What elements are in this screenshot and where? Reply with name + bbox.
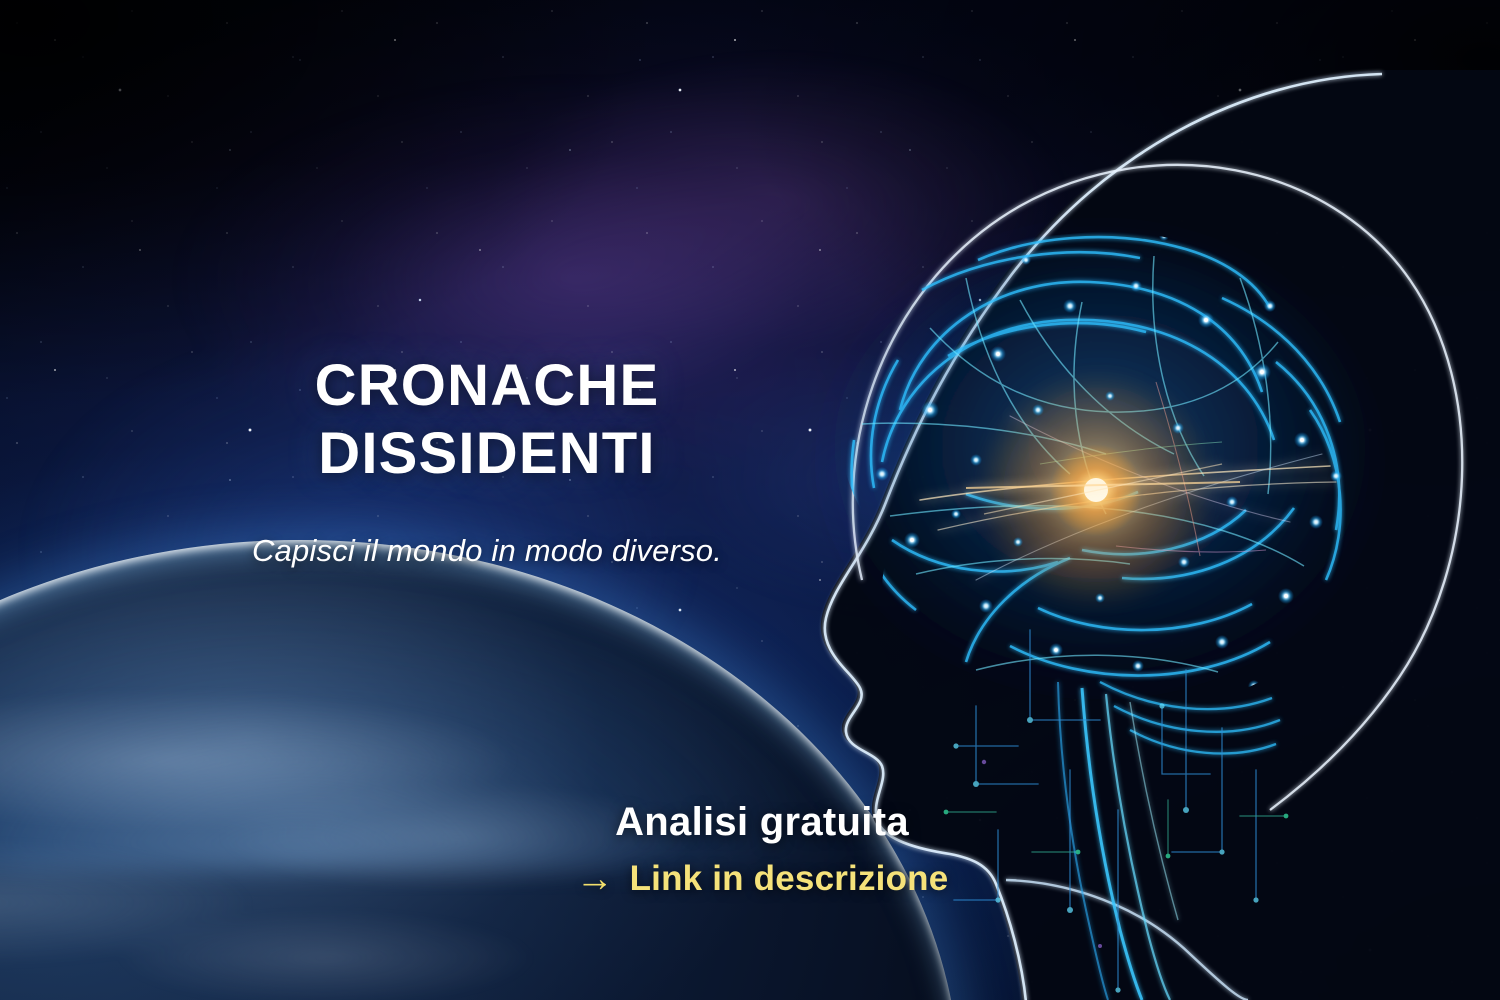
cta-headline: Analisi gratuita <box>437 800 1087 845</box>
arrow-right-icon: → <box>576 860 614 898</box>
headline-line-1: CRONACHE <box>180 352 794 420</box>
headline-line-2: DISSIDENTI <box>180 420 794 488</box>
tagline: Capisci il mondo in modo diverso. <box>180 533 794 569</box>
cta-link-label[interactable]: Link in descrizione <box>630 859 949 899</box>
cta-block: Analisi gratuita → Link in descrizione <box>437 800 1087 899</box>
cta-link-row[interactable]: → Link in descrizione <box>437 859 1087 899</box>
poster-canvas: CRONACHE DISSIDENTI Capisci il mondo in … <box>0 0 1500 1000</box>
page-title: CRONACHE DISSIDENTI <box>180 352 794 488</box>
